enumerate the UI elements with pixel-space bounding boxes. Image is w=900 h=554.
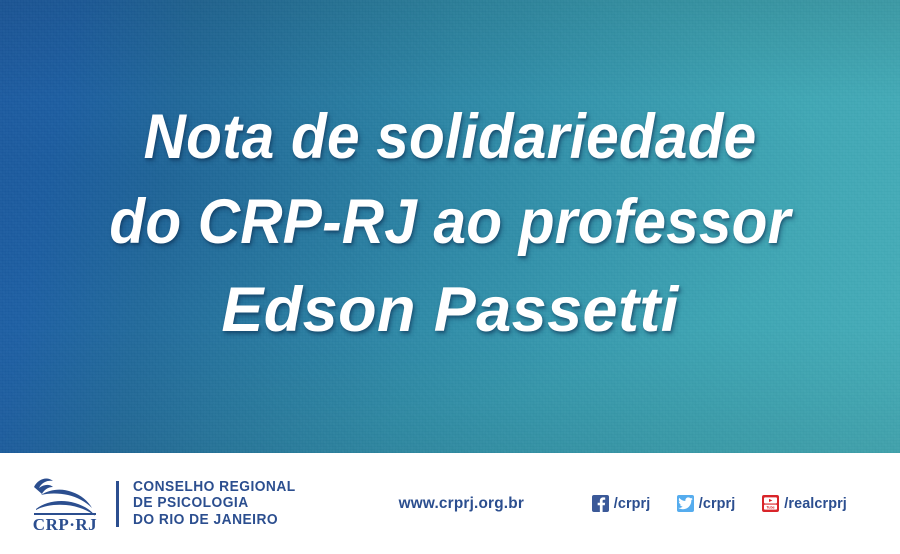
headline-line-3: Edson Passetti [0, 266, 900, 354]
twitter-handle: /crprj [698, 495, 735, 512]
logo-wordmark: CONSELHO REGIONAL DE PSICOLOGIA DO RIO D… [133, 479, 304, 529]
crp-rj-announcement-banner: Nota de solidariedade do CRP-RJ ao profe… [0, 0, 900, 554]
facebook-handle: /crprj [613, 495, 650, 512]
footer-bar: CRP·RJ CONSELHO REGIONAL DE PSICOLOGIA D… [0, 453, 900, 554]
social-links: /crprj /crprj Tube [592, 495, 848, 512]
headline-block: Nota de solidariedade do CRP-RJ ao profe… [0, 96, 900, 354]
facebook-icon [592, 495, 609, 512]
headline-line-2: do CRP-RJ ao professor [32, 178, 869, 266]
youtube-icon: Tube [762, 495, 779, 512]
logo-word-line-1: CONSELHO REGIONAL [133, 479, 296, 496]
logo-word-line-3: DO RIO DE JANEIRO [133, 512, 296, 529]
social-link-youtube[interactable]: Tube /realcrprj [762, 495, 848, 512]
logo-word-line-2: DE PSICOLOGIA [133, 495, 296, 512]
youtube-handle: /realcrprj [784, 495, 847, 512]
twitter-icon [677, 495, 694, 512]
headline-line-1: Nota de solidariedade [32, 96, 869, 178]
website-url[interactable]: www.crprj.org.br [399, 495, 524, 513]
social-link-facebook[interactable]: /crprj [592, 495, 651, 512]
social-link-twitter[interactable]: /crprj [677, 495, 736, 512]
svg-text:Tube: Tube [766, 506, 774, 510]
crp-rj-bird-wave-logo: CRP·RJ [28, 475, 102, 533]
logo-divider [116, 481, 119, 527]
svg-text:CRP·RJ: CRP·RJ [33, 515, 97, 533]
crp-rj-logo[interactable]: CRP·RJ CONSELHO REGIONAL DE PSICOLOGIA D… [28, 475, 304, 533]
